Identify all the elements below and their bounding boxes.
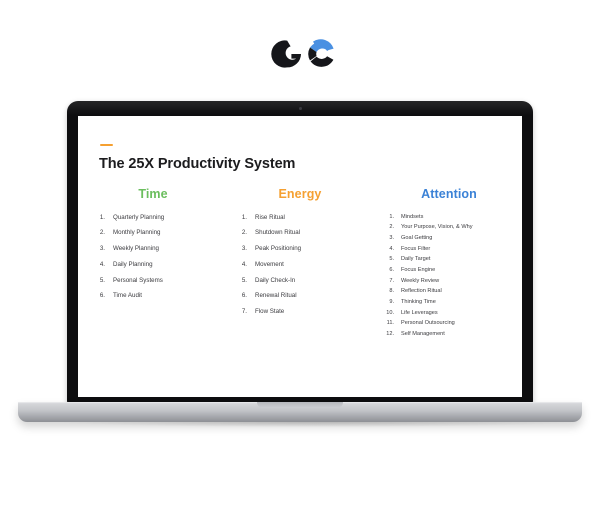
item-number: 3. <box>234 246 247 252</box>
item-number: 4. <box>92 262 105 268</box>
page-title: The 25X Productivity System <box>99 156 295 172</box>
item-label: Goal Getting <box>401 236 522 242</box>
item-number: 6. <box>92 293 105 299</box>
list-item: 2.Your Purpose, Vision, & Why <box>382 225 522 231</box>
list-attention: 1.Mindsets 2.Your Purpose, Vision, & Why… <box>382 215 522 338</box>
laptop-mockup: The 25X Productivity System Time 1.Quart… <box>0 0 600 510</box>
list-time: 1.Quarterly Planning 2.Monthly Planning … <box>92 215 224 300</box>
item-label: Thinking Time <box>401 300 522 306</box>
list-item: 7.Weekly Review <box>382 279 522 285</box>
item-label: Quarterly Planning <box>113 215 224 221</box>
list-item: 6.Time Audit <box>92 293 224 299</box>
item-number: 5. <box>234 278 247 284</box>
laptop-base <box>18 402 582 422</box>
list-item: 7.Flow State <box>234 309 370 315</box>
list-item: 3.Peak Positioning <box>234 246 370 252</box>
item-number: 1. <box>382 215 394 221</box>
item-label: Daily Target <box>401 257 522 263</box>
item-number: 2. <box>382 225 394 231</box>
list-item: 5.Daily Check-In <box>234 278 370 284</box>
item-number: 5. <box>382 257 394 263</box>
column-energy: Energy 1.Rise Ritual 2.Shutdown Ritual 3… <box>224 188 370 343</box>
list-item: 1.Mindsets <box>382 215 522 221</box>
item-number: 3. <box>92 246 105 252</box>
list-item: 1.Quarterly Planning <box>92 215 224 221</box>
column-time: Time 1.Quarterly Planning 2.Monthly Plan… <box>78 188 224 343</box>
item-number: 12. <box>382 332 394 338</box>
item-label: Personal Outsourcing <box>401 321 522 327</box>
list-item: 12.Self Management <box>382 332 522 338</box>
column-heading-attention: Attention <box>382 188 522 201</box>
item-number: 6. <box>382 268 394 274</box>
item-number: 5. <box>92 278 105 284</box>
title-accent-dash <box>100 144 113 146</box>
list-item: 5.Daily Target <box>382 257 522 263</box>
item-label: Reflection Ritual <box>401 289 522 295</box>
item-label: Your Purpose, Vision, & Why <box>401 225 522 231</box>
list-item: 9.Thinking Time <box>382 300 522 306</box>
list-item: 6.Renewal Ritual <box>234 293 370 299</box>
presentation-slide: The 25X Productivity System Time 1.Quart… <box>78 116 522 397</box>
webcam-icon <box>299 107 302 110</box>
list-item: 4.Movement <box>234 262 370 268</box>
list-item: 3.Weekly Planning <box>92 246 224 252</box>
list-item: 10.Life Leverages <box>382 311 522 317</box>
item-label: Shutdown Ritual <box>255 230 370 236</box>
list-item: 4.Daily Planning <box>92 262 224 268</box>
column-heading-time: Time <box>92 188 224 201</box>
item-label: Time Audit <box>113 293 224 299</box>
item-label: Rise Ritual <box>255 215 370 221</box>
column-attention: Attention 1.Mindsets 2.Your Purpose, Vis… <box>370 188 522 343</box>
item-label: Movement <box>255 262 370 268</box>
item-number: 8. <box>382 289 394 295</box>
item-label: Flow State <box>255 309 370 315</box>
item-number: 2. <box>234 230 247 236</box>
item-label: Focus Engine <box>401 268 522 274</box>
item-number: 7. <box>382 279 394 285</box>
list-item: 1.Rise Ritual <box>234 215 370 221</box>
base-notch <box>257 402 343 408</box>
item-label: Personal Systems <box>113 278 224 284</box>
item-number: 9. <box>382 300 394 306</box>
list-item: 11.Personal Outsourcing <box>382 321 522 327</box>
list-item: 6.Focus Engine <box>382 268 522 274</box>
item-label: Weekly Review <box>401 279 522 285</box>
item-number: 3. <box>382 236 394 242</box>
laptop-lid: The 25X Productivity System Time 1.Quart… <box>67 101 533 404</box>
list-item: 2.Shutdown Ritual <box>234 230 370 236</box>
column-heading-energy: Energy <box>234 188 370 201</box>
item-label: Self Management <box>401 332 522 338</box>
list-item: 3.Goal Getting <box>382 236 522 242</box>
columns-container: Time 1.Quarterly Planning 2.Monthly Plan… <box>78 188 522 343</box>
item-number: 10. <box>382 311 394 317</box>
item-number: 6. <box>234 293 247 299</box>
item-number: 4. <box>382 247 394 253</box>
item-number: 1. <box>234 215 247 221</box>
item-number: 2. <box>92 230 105 236</box>
list-item: 8.Reflection Ritual <box>382 289 522 295</box>
laptop-screen: The 25X Productivity System Time 1.Quart… <box>78 116 522 397</box>
base-shadow <box>62 422 574 427</box>
list-item: 4.Focus Filter <box>382 247 522 253</box>
item-number: 1. <box>92 215 105 221</box>
item-label: Life Leverages <box>401 311 522 317</box>
item-label: Renewal Ritual <box>255 293 370 299</box>
list-item: 2.Monthly Planning <box>92 230 224 236</box>
item-label: Daily Planning <box>113 262 224 268</box>
item-number: 7. <box>234 309 247 315</box>
item-label: Monthly Planning <box>113 230 224 236</box>
item-label: Focus Filter <box>401 247 522 253</box>
item-label: Weekly Planning <box>113 246 224 252</box>
item-label: Peak Positioning <box>255 246 370 252</box>
item-label: Mindsets <box>401 215 522 221</box>
item-number: 11. <box>382 321 394 327</box>
list-item: 5.Personal Systems <box>92 278 224 284</box>
item-number: 4. <box>234 262 247 268</box>
item-label: Daily Check-In <box>255 278 370 284</box>
list-energy: 1.Rise Ritual 2.Shutdown Ritual 3.Peak P… <box>234 215 370 316</box>
